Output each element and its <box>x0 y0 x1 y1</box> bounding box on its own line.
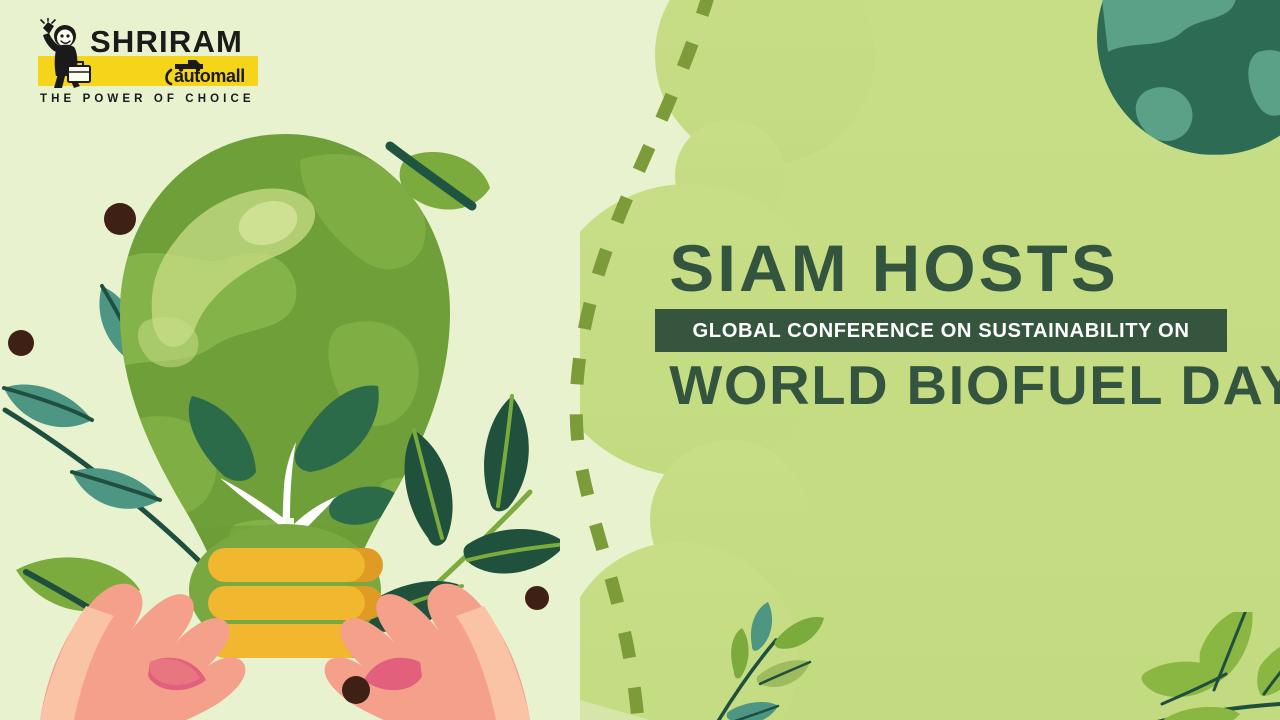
seed-dot-icon <box>342 676 370 704</box>
leaf-branch-bottom-middle <box>706 600 826 720</box>
seed-dot-icon <box>525 586 549 610</box>
poster-canvas: SIAM HOSTS GLOBAL CONFERENCE ON SUSTAINA… <box>0 0 1280 720</box>
seed-dot-icon <box>104 203 136 235</box>
logo-sub-brand: automall <box>174 66 245 86</box>
headline-line-1: SIAM HOSTS <box>655 236 1257 301</box>
headline-banner: GLOBAL CONFERENCE ON SUSTAINABILITY ON <box>655 309 1227 352</box>
headline-banner-text: GLOBAL CONFERENCE ON SUSTAINABILITY ON <box>668 319 1214 343</box>
headline-block: SIAM HOSTS GLOBAL CONFERENCE ON SUSTAINA… <box>655 236 1245 413</box>
logo-brand-name: SHRIRAM <box>90 24 243 59</box>
leaf-icon-floating-top <box>372 132 502 227</box>
seed-dot-icon <box>8 330 34 356</box>
shriram-automall-logo[interactable]: SHRIRAM automall THE POWER OF CHOICE <box>18 18 258 110</box>
logo-tagline: THE POWER OF CHOICE <box>40 93 255 105</box>
leaf-branch-bottom-right <box>1118 612 1280 720</box>
headline-line-3: WORLD BIOFUEL DAY <box>655 358 1257 413</box>
earth-globe-icon <box>1090 0 1280 162</box>
